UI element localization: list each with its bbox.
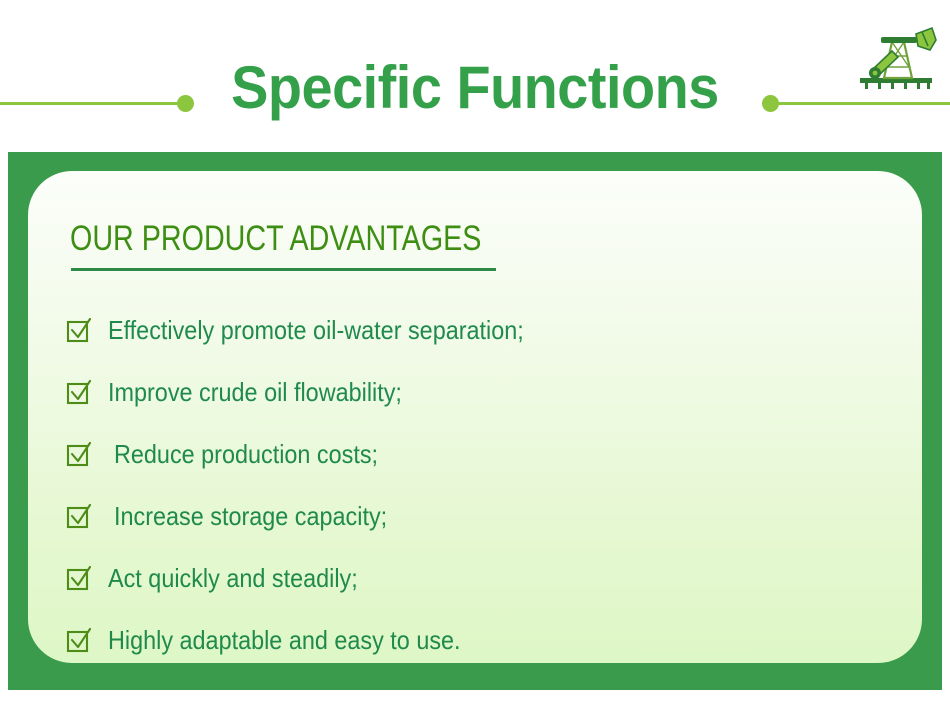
page-title: Specific Functions [33,52,917,124]
list-item-label: Effectively promote oil-water separation… [108,315,524,345]
checkbox-checked-icon [66,503,92,529]
checkbox-checked-icon [66,627,92,653]
slide-header: Specific Functions [0,0,950,140]
list-item: Effectively promote oil-water separation… [60,299,890,361]
advantages-list: Effectively promote oil-water separation… [60,299,890,663]
slide-root: Specific Functions [0,0,950,724]
list-item-label: Improve crude oil flowability; [108,377,402,407]
advantages-card: OUR PRODUCT ADVANTAGES Effectively promo… [28,171,922,663]
list-item: Improve crude oil flowability; [60,361,890,423]
card-heading: OUR PRODUCT ADVANTAGES [70,218,481,260]
checkbox-checked-icon [66,565,92,591]
list-item-label: Act quickly and steadily; [108,563,358,593]
horizontal-rule-right [776,102,950,105]
list-item-label: Increase storage capacity; [114,501,387,531]
oil-derrick-icon [856,26,942,92]
list-item: Increase storage capacity; [60,485,890,547]
list-item: Highly adaptable and easy to use. [60,609,890,663]
list-item: Reduce production costs; [60,423,890,485]
list-item-label: Highly adaptable and easy to use. [108,625,461,655]
checkbox-checked-icon [66,317,92,343]
card-heading-underline [71,268,496,271]
content-frame: OUR PRODUCT ADVANTAGES Effectively promo… [8,152,942,690]
checkbox-checked-icon [66,441,92,467]
checkbox-checked-icon [66,379,92,405]
list-item-label: Reduce production costs; [114,439,378,469]
list-item: Act quickly and steadily; [60,547,890,609]
